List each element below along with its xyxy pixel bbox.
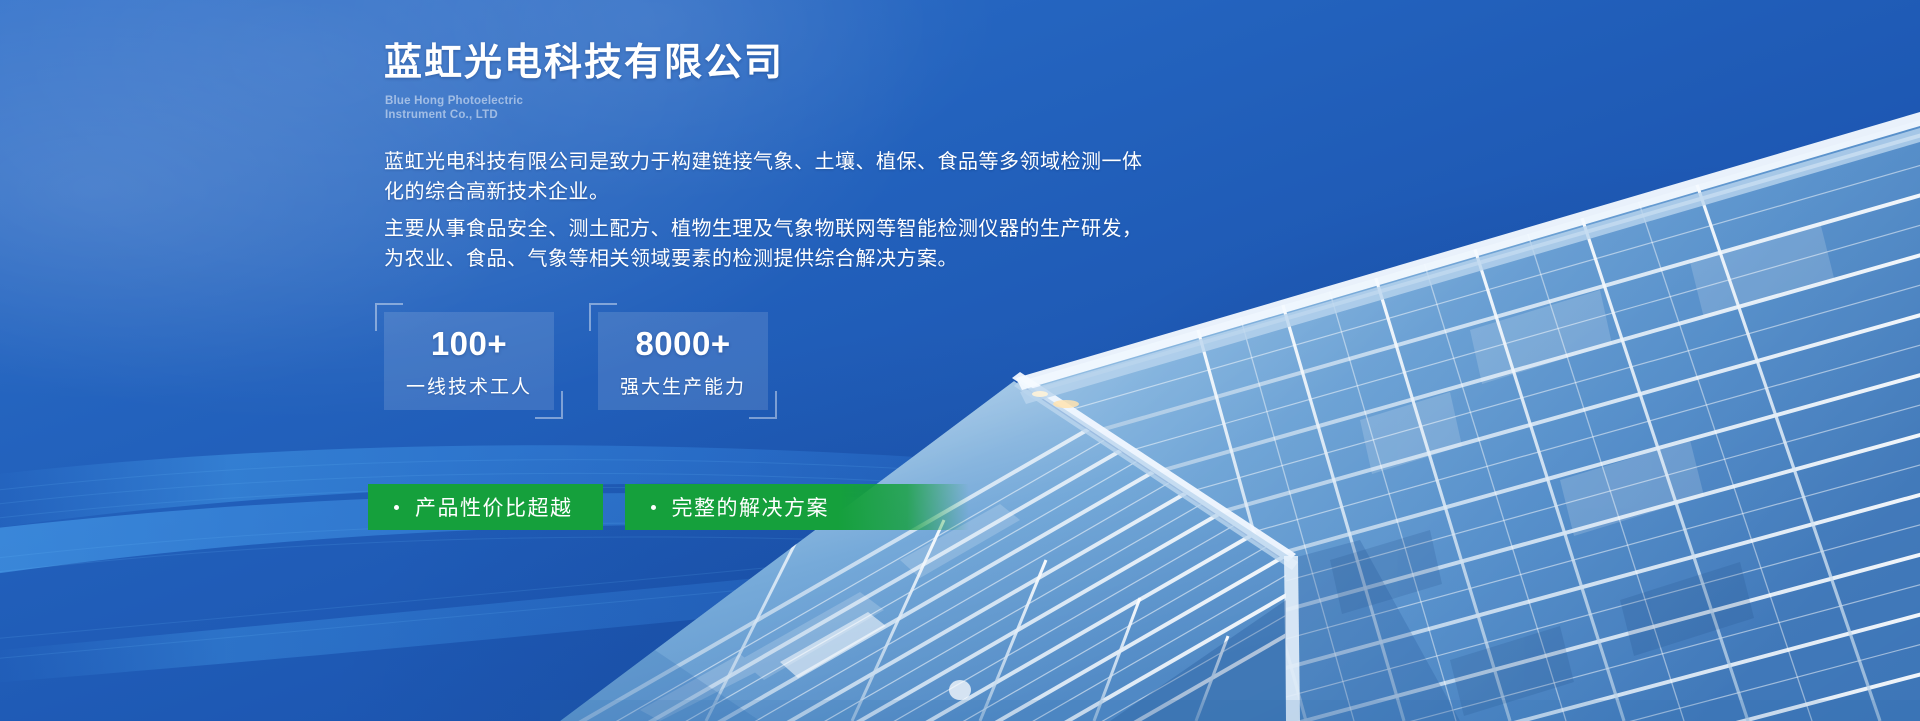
- stat-label: 一线技术工人: [384, 372, 554, 399]
- intro-paragraph-1-line-1: 蓝虹光电科技有限公司是致力于构建链接气象、土壤、植保、食品等多领域检测一体: [384, 147, 1184, 177]
- intro-paragraph-2: 主要从事食品安全、测土配方、植物生理及气象物联网等智能检测仪器的生产研发， 为农…: [384, 214, 1184, 274]
- company-name-english: Blue Hong Photoelectric Instrument Co., …: [385, 94, 523, 122]
- bullet-dot-icon: [651, 505, 656, 510]
- company-en-line-2: Instrument Co., LTD: [385, 108, 523, 122]
- intro-paragraph-1-line-2: 化的综合高新技术企业。: [384, 177, 1184, 207]
- stat-card-capacity: 8000+ 强大生产能力: [598, 312, 768, 410]
- feature-tag-value: 产品性价比超越: [368, 484, 603, 530]
- feature-tag-label: 产品性价比超越: [415, 492, 573, 522]
- stat-value: 100+: [384, 325, 554, 363]
- feature-tag-solution: 完整的解决方案: [625, 484, 970, 530]
- company-hero-banner: 蓝虹光电科技有限公司 Blue Hong Photoelectric Instr…: [0, 0, 1920, 721]
- intro-paragraph-2-line-1: 主要从事食品安全、测土配方、植物生理及气象物联网等智能检测仪器的生产研发，: [384, 214, 1184, 244]
- stat-card-workers: 100+ 一线技术工人: [384, 312, 554, 410]
- intro-paragraph-2-line-2: 为农业、食品、气象等相关领域要素的检测提供综合解决方案。: [384, 244, 1184, 274]
- company-name-title: 蓝虹光电科技有限公司: [384, 41, 784, 87]
- intro-paragraph-1: 蓝虹光电科技有限公司是致力于构建链接气象、土壤、植保、食品等多领域检测一体 化的…: [384, 147, 1184, 207]
- stat-label: 强大生产能力: [598, 372, 768, 399]
- company-en-line-1: Blue Hong Photoelectric: [385, 94, 523, 108]
- feature-tag-label: 完整的解决方案: [672, 492, 830, 522]
- bullet-dot-icon: [394, 505, 399, 510]
- hero-content: 蓝虹光电科技有限公司 Blue Hong Photoelectric Instr…: [384, 0, 1484, 721]
- feature-tag-group: 产品性价比超越 完整的解决方案: [368, 484, 969, 530]
- statistics-group: 100+ 一线技术工人 8000+ 强大生产能力: [384, 312, 768, 410]
- stat-value: 8000+: [598, 325, 768, 363]
